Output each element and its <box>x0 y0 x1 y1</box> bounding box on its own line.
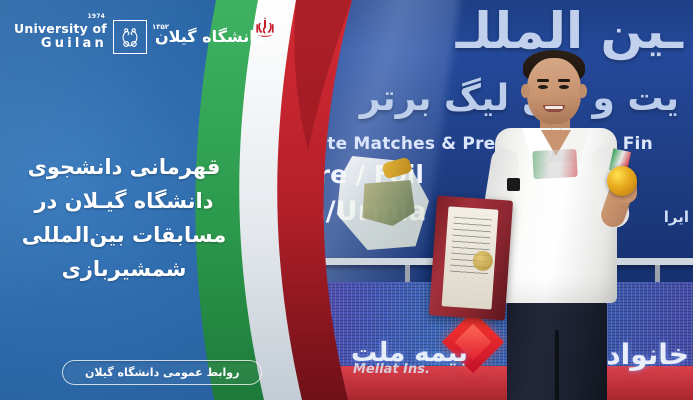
athlete-ear-right <box>578 84 587 98</box>
athlete-head <box>527 58 581 124</box>
logo-line-2: Guilan <box>14 37 107 52</box>
headline-line-1: قهرمانی دانشجوی <box>0 150 248 184</box>
page-title: قهرمانی دانشجوی دانشگاه گیـلان در مسابقا… <box>0 150 248 286</box>
event-photo: ـین المللـ یت و نال لیگ برتر Satellite M… <box>255 0 693 400</box>
guilan-university-crest-icon <box>113 20 147 54</box>
public-relations-badge: روابط عمومی دانشگاه گیلان <box>62 360 262 385</box>
athlete-jersey-brand-icon <box>507 178 520 191</box>
athlete-mouth <box>543 105 565 112</box>
athlete-brow-right <box>558 79 570 82</box>
athlete-brow-left <box>537 79 549 82</box>
logo-line-1: University of <box>14 22 107 36</box>
athlete-eye-right <box>559 85 569 89</box>
headline-line-3: مسابقات بین‌المللی <box>0 218 248 252</box>
headline-line-2: دانشگاه گیـلان در <box>0 184 248 218</box>
university-logo-persian: ۱۳۵۲ دانشگاه گیلان <box>153 29 263 45</box>
fencing-champion-athlete <box>255 0 693 400</box>
headline-line-4: شمشیربازی <box>0 252 248 286</box>
athlete-flag-sash <box>532 149 577 179</box>
athlete-eye-left <box>538 85 548 89</box>
athlete-ear-left <box>521 84 530 98</box>
athlete-leg-split <box>555 330 559 400</box>
gold-medal-icon <box>607 166 637 196</box>
news-banner: ـین المللـ یت و نال لیگ برتر Satellite M… <box>0 0 693 400</box>
trophy-plaque <box>429 195 513 320</box>
university-logo-english: 1974 University of Guilan <box>14 22 107 51</box>
logo-year-gregorian: 1974 <box>87 14 105 21</box>
university-logo[interactable]: 1974 University of Guilan ۱۳۵۲ دانشگاه گ… <box>14 20 263 54</box>
logo-year-hijri: ۱۳۵۲ <box>152 24 169 31</box>
logo-persian-name: دانشگاه گیلان <box>155 27 263 46</box>
